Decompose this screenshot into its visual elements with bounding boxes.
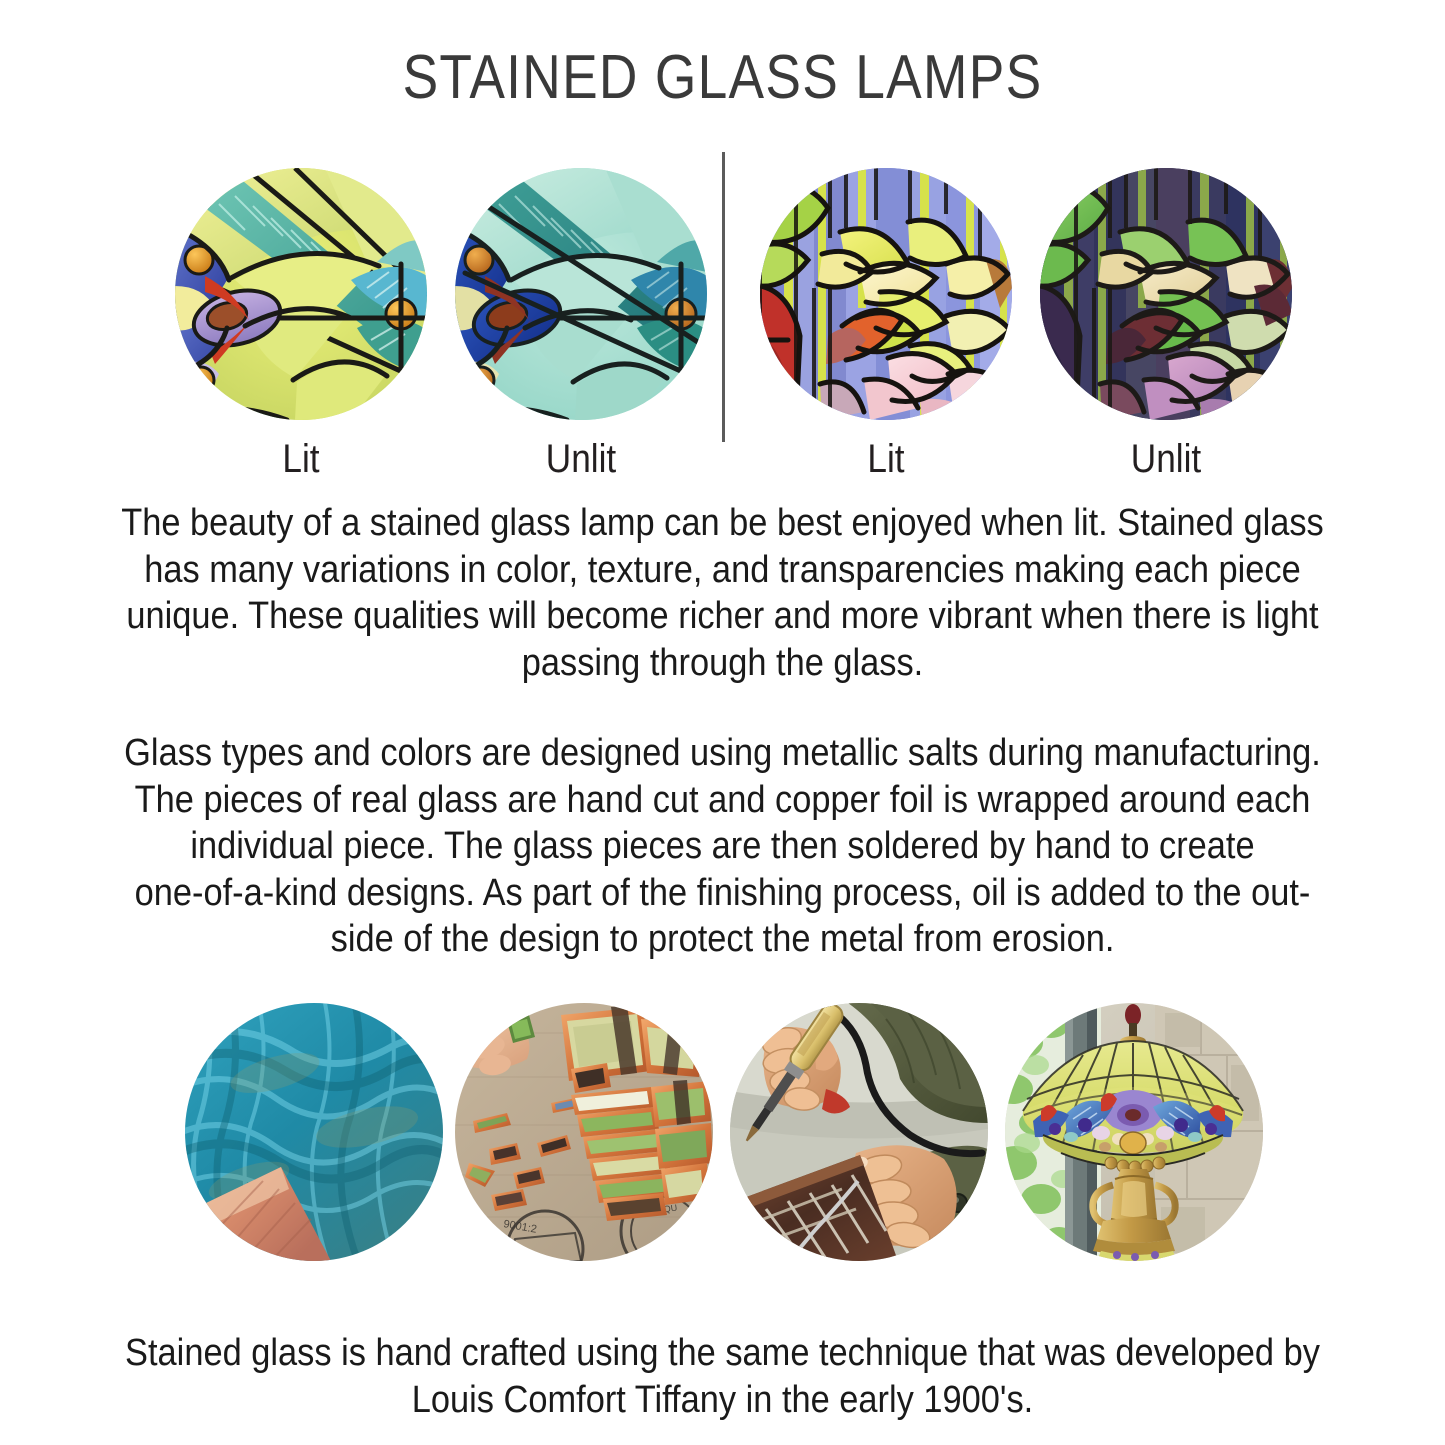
- intro-line-2: has many variations in color, texture, a…: [107, 547, 1339, 594]
- intro-line-3: unique. These qualities will become rich…: [107, 593, 1339, 640]
- caption-geometric-unlit: Unlit: [470, 436, 692, 482]
- copper-foiled-glass-pieces-photo: SUPER QU 9001:2: [455, 1003, 713, 1261]
- page-title: STAINED GLASS LAMPS: [101, 44, 1344, 112]
- stained-glass-floral-unlit-photo: [1040, 168, 1292, 420]
- process-paragraph: Glass types and colors are designed usin…: [107, 730, 1339, 963]
- footer-line-2: Louis Comfort Tiffany in the early 1900'…: [107, 1377, 1339, 1424]
- comparison-image-row: [0, 168, 1445, 422]
- stained-glass-geometric-unlit-photo: [455, 168, 707, 420]
- intro-line-1: The beauty of a stained glass lamp can b…: [107, 500, 1339, 547]
- caption-floral-unlit: Unlit: [1055, 436, 1277, 482]
- comparison-caption-row: Lit Unlit Lit Unlit: [0, 436, 1445, 484]
- intro-paragraph: The beauty of a stained glass lamp can b…: [107, 500, 1339, 686]
- caption-floral-lit: Lit: [775, 436, 997, 482]
- infographic-page: STAINED GLASS LAMPS: [0, 0, 1445, 1445]
- group-divider: [722, 152, 725, 442]
- process-image-row: SUPER QU 9001:2: [0, 1003, 1445, 1261]
- process-line-1: Glass types and colors are designed usin…: [107, 730, 1339, 777]
- stained-glass-floral-lit-photo: [760, 168, 1012, 420]
- caption-geometric-lit: Lit: [190, 436, 412, 482]
- process-line-3: individual piece. The glass pieces are t…: [107, 823, 1339, 870]
- footer-line-1: Stained glass is hand crafted using the …: [107, 1330, 1339, 1377]
- stained-glass-geometric-lit-photo: [175, 168, 427, 420]
- process-line-2: The pieces of real glass are hand cut an…: [107, 777, 1339, 824]
- process-line-4: one-of-a-kind designs. As part of the fi…: [107, 870, 1339, 917]
- blue-art-glass-sheet-photo: [185, 1003, 443, 1261]
- process-line-5: side of the design to protect the metal …: [107, 916, 1339, 963]
- intro-line-4: passing through the glass.: [107, 640, 1339, 687]
- finished-tiffany-style-lamp-photo: [1005, 1003, 1263, 1261]
- footer-paragraph: Stained glass is hand crafted using the …: [107, 1330, 1339, 1423]
- hand-soldering-glass-photo: [730, 1003, 988, 1261]
